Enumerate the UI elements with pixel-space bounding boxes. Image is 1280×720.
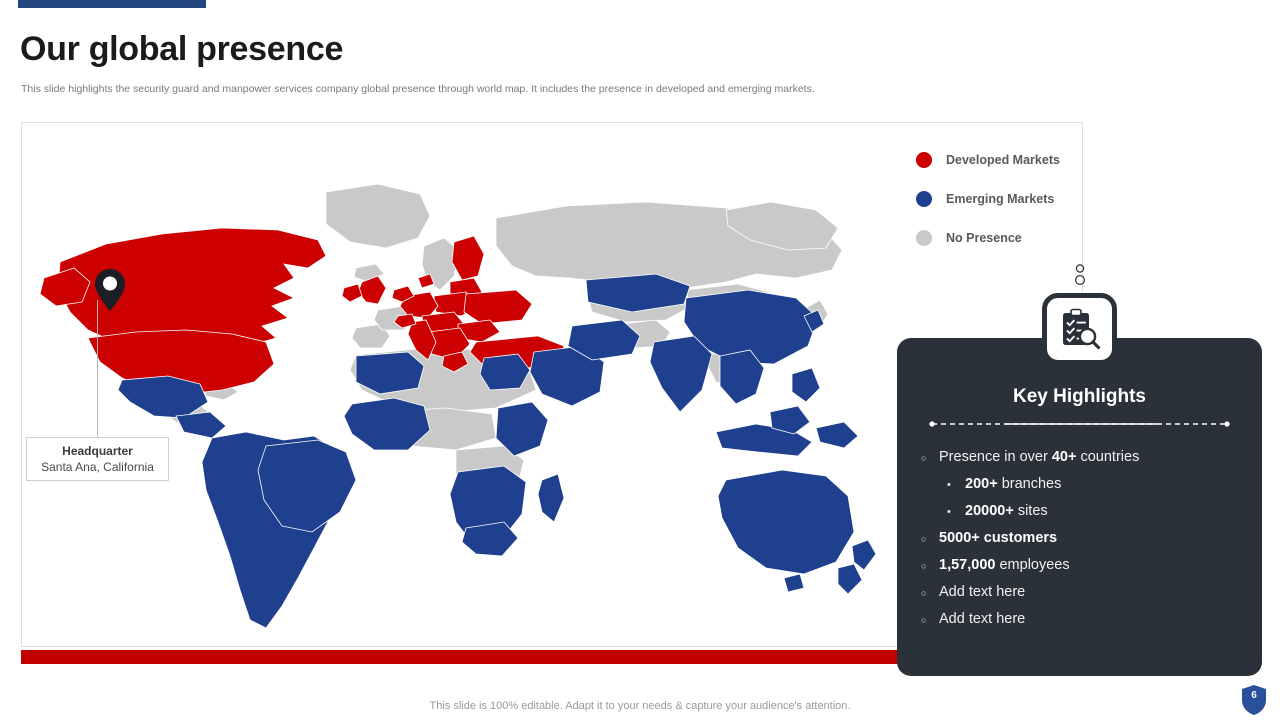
key-highlight-text: Add text here: [939, 608, 1025, 630]
key-highlights-divider: [927, 416, 1232, 426]
key-highlight-text: Presence in over 40+ countries: [939, 446, 1139, 468]
bullet-circle-icon: [921, 581, 939, 604]
map-legend: Developed Markets Emerging Markets No Pr…: [916, 140, 1076, 257]
country-finland: [452, 236, 484, 280]
checklist-search-icon: [1042, 293, 1117, 365]
key-highlight-text: 1,57,000 employees: [939, 554, 1070, 576]
headquarter-leader-line: [97, 300, 98, 437]
headquarter-location: Santa Ana, California: [41, 459, 154, 475]
country-greenland: [326, 184, 430, 248]
headquarter-callout-box: Headquarter Santa Ana, California: [26, 437, 169, 481]
bullet-circle-icon: [921, 608, 939, 631]
bullet-dot-icon: [947, 500, 965, 523]
legend-label-developed: Developed Markets: [946, 153, 1060, 167]
country-new-zealand-south: [838, 564, 862, 594]
country-tasmania: [784, 574, 804, 592]
page-subtitle: This slide highlights the security guard…: [21, 82, 815, 96]
key-highlights-list: Presence in over 40+ countries200+ branc…: [921, 446, 1251, 635]
legend-label-emerging: Emerging Markets: [946, 192, 1054, 206]
headquarter-title: Headquarter: [62, 443, 133, 459]
legend-dot-icon-no-presence: [916, 230, 932, 246]
country-ukraine: [464, 290, 532, 324]
footer-note: This slide is 100% editable. Adapt it to…: [0, 700, 1280, 712]
key-highlight-text: 20000+ sites: [965, 500, 1048, 522]
key-highlight-item[interactable]: 20000+ sites: [921, 500, 1251, 527]
key-highlights-title: Key Highlights: [897, 386, 1262, 408]
bullet-circle-icon: [921, 554, 939, 577]
country-philippines: [792, 368, 820, 402]
country-australia: [718, 470, 854, 574]
key-highlight-item[interactable]: 5000+ customers: [921, 527, 1251, 554]
bubbles-icon: [1073, 264, 1087, 290]
bullet-circle-icon: [921, 527, 939, 550]
key-highlight-text: 5000+ customers: [939, 527, 1057, 549]
legend-item-developed[interactable]: Developed Markets: [916, 140, 1076, 179]
slide-root: Our global presence This slide highlight…: [0, 0, 1280, 720]
country-india: [650, 336, 712, 412]
country-madagascar: [538, 474, 564, 522]
bullet-dot-icon: [947, 473, 965, 496]
key-highlight-item[interactable]: Add text here: [921, 608, 1251, 635]
top-accent-bar: [18, 0, 206, 8]
legend-label-no-presence: No Presence: [946, 231, 1022, 245]
legend-dot-icon-developed: [916, 152, 932, 168]
world-map[interactable]: [26, 150, 916, 630]
key-highlight-text: 200+ branches: [965, 473, 1061, 495]
country-new-zealand: [852, 540, 876, 570]
bullet-circle-icon: [921, 446, 939, 469]
country-ireland: [342, 284, 362, 302]
page-number: 6: [1240, 690, 1268, 701]
key-highlight-text: Add text here: [939, 581, 1025, 603]
country-central-america-blue: [176, 412, 226, 438]
page-title: Our global presence: [20, 28, 343, 70]
legend-item-emerging[interactable]: Emerging Markets: [916, 179, 1076, 218]
legend-dot-icon-emerging: [916, 191, 932, 207]
key-highlight-item[interactable]: Presence in over 40+ countries: [921, 446, 1251, 473]
key-highlight-item[interactable]: 1,57,000 employees: [921, 554, 1251, 581]
map-pin-icon[interactable]: [94, 268, 126, 312]
country-papua-new-guinea: [816, 422, 858, 448]
country-west-africa: [344, 398, 430, 450]
key-highlight-item[interactable]: Add text here: [921, 581, 1251, 608]
legend-item-no-presence[interactable]: No Presence: [916, 218, 1076, 257]
key-highlight-item[interactable]: 200+ branches: [921, 473, 1251, 500]
key-highlights-panel: Key Highlights Presence in over 40+ coun…: [897, 338, 1262, 676]
